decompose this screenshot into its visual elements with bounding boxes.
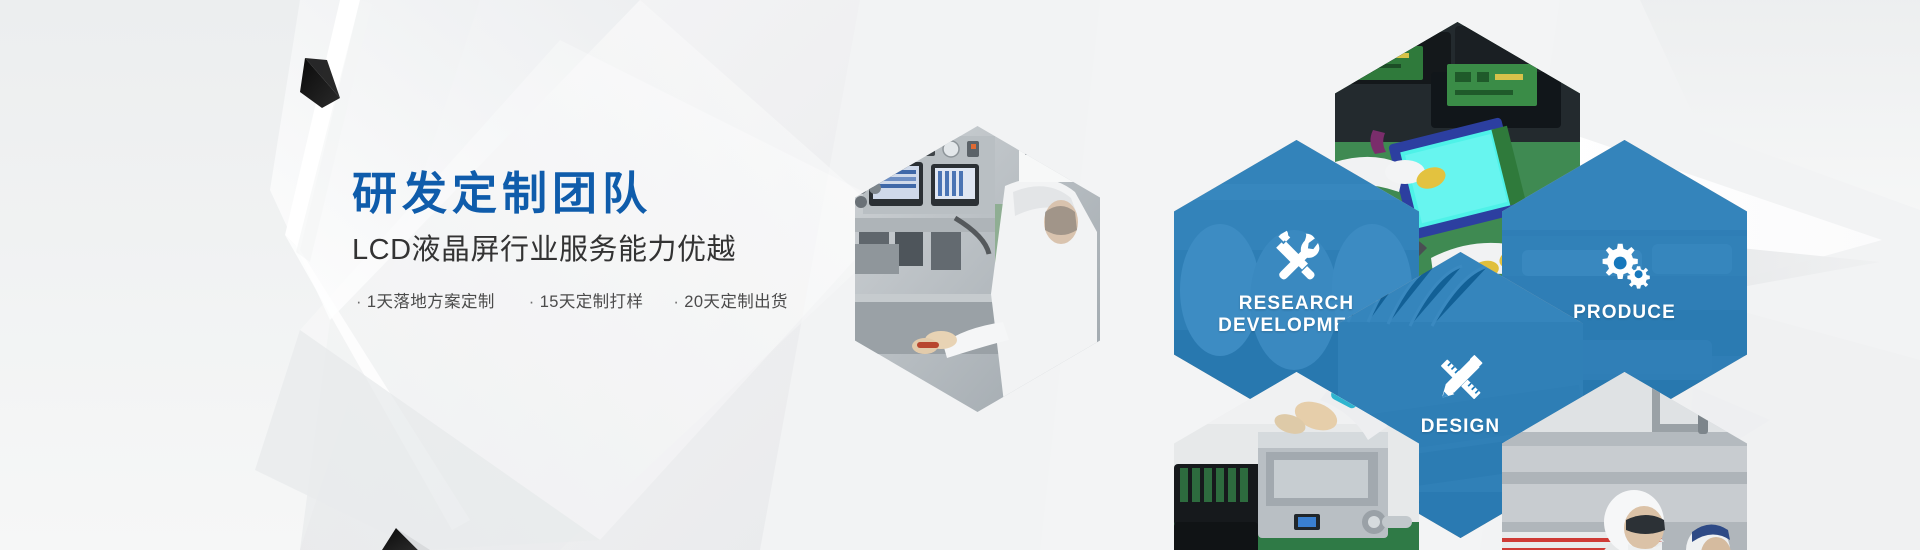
page-subtitle: LCD液晶屏行业服务能力优越 bbox=[352, 232, 788, 268]
list-item-label: 20天定制出货 bbox=[684, 288, 788, 312]
bullet-dot-icon: · bbox=[529, 293, 535, 312]
list-item: · 20天定制出货 bbox=[673, 288, 788, 312]
banner-copy: 研发定制团队 LCD液晶屏行业服务能力优越 · 1天落地方案定制 · 15天定制… bbox=[352, 168, 788, 312]
pencil-ruler-icon bbox=[1433, 352, 1489, 406]
hexagon-label-line1: DESIGN bbox=[1421, 416, 1500, 438]
bullet-dot-icon: · bbox=[356, 293, 362, 312]
wrench-screwdriver-icon bbox=[1270, 229, 1324, 283]
hexagon-cluster: RESEARCH DEVELOPMENT bbox=[1150, 0, 1770, 550]
bullet-dot-icon: · bbox=[673, 293, 679, 312]
page-title: 研发定制团队 bbox=[352, 168, 788, 220]
list-item-label: 15天定制打样 bbox=[540, 288, 644, 312]
feature-list: · 1天落地方案定制 · 15天定制打样 · 20天定制出货 bbox=[356, 288, 788, 312]
list-item-label: 1天落地方案定制 bbox=[367, 288, 495, 312]
hexagon-label-line1: RESEARCH bbox=[1239, 293, 1354, 315]
list-item: · 1天落地方案定制 bbox=[356, 288, 495, 312]
list-item: · 15天定制打样 bbox=[529, 288, 644, 312]
gears-icon bbox=[1597, 242, 1653, 292]
hexagon-label-line1: PRODUCE bbox=[1573, 302, 1676, 324]
promo-banner: 研发定制团队 LCD液晶屏行业服务能力优越 · 1天落地方案定制 · 15天定制… bbox=[0, 0, 1920, 550]
